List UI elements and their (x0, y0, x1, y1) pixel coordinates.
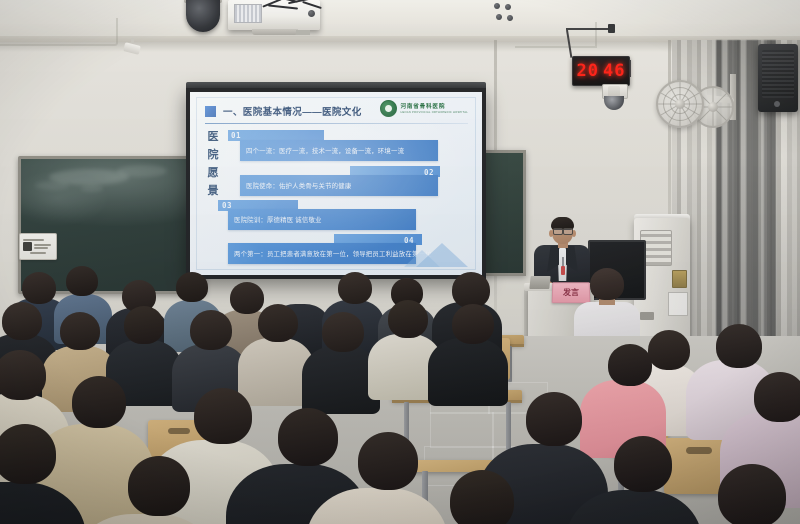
vertical-char-0: 医 (208, 132, 219, 143)
wall-molding-right (515, 22, 597, 48)
block-number-01: 01 (231, 131, 241, 140)
slide-content-blocks: 01 四个一流：医疗一流，技术一流，设备一流，环境一流 02 医院使命：佑护人类… (228, 130, 474, 269)
wall-notice-sign (19, 233, 57, 260)
desk-leg-4 (506, 402, 511, 450)
block-text-03: 医院院训：厚德精医 诚信敬业 (234, 215, 322, 224)
projector-mount (252, 29, 298, 35)
presentation-slide: 一、医院基本情况——医院文化 河南省骨科医院 HENAN PROVINCIAL … (190, 92, 482, 275)
wall-fan (656, 80, 704, 128)
speaker-grill (762, 50, 794, 98)
hospital-name-en: HENAN PROVINCIAL ORTHOPEDIC HOSPITAL (400, 111, 468, 114)
title-bullet-icon (205, 106, 216, 117)
ac-brand-badge (640, 312, 654, 320)
presenter-badge (561, 266, 565, 275)
clock-hours: 20 (577, 61, 599, 81)
slide-title: 一、医院基本情况——医院文化 (223, 104, 362, 118)
ac-control-panel[interactable] (672, 270, 687, 288)
projector-knobs (494, 3, 518, 23)
attendee-head (590, 268, 624, 300)
speaker-indicator (774, 101, 780, 107)
projection-screen: 一、医院基本情况——医院文化 河南省骨科医院 HENAN PROVINCIAL … (190, 92, 482, 275)
block-text-02: 医院使命：佑护人类骨与关节的健康 (246, 181, 351, 190)
vertical-char-3: 景 (208, 186, 219, 197)
clock-plug (608, 24, 615, 33)
vertical-char-1: 院 (208, 150, 219, 161)
block-text-01: 四个一流：医疗一流，技术一流，设备一流，环境一流 (246, 146, 404, 155)
block-number-02: 02 (424, 168, 434, 177)
hospital-emblem-icon (380, 100, 397, 117)
ac-label (668, 292, 688, 316)
block-number-03: 03 (222, 201, 232, 210)
led-wall-clock: 20 46 (572, 56, 630, 86)
vertical-char-2: 愿 (208, 168, 219, 179)
projector-cables (262, 0, 328, 18)
wall-molding-left (0, 18, 118, 46)
clock-wire-horizontal (566, 28, 612, 30)
decorative-chevron-small (404, 250, 440, 267)
name-card-text: 发言 (563, 289, 579, 297)
block-text-04: 两个第一：员工把患者满意放在第一位，领导把员工利益放在第一位 (234, 249, 432, 258)
hospital-logo: 河南省骨科医院 HENAN PROVINCIAL ORTHOPEDIC HOSP… (380, 97, 468, 119)
podium-laptop (529, 276, 550, 289)
lecture-hall-scene: 20 46 (0, 0, 800, 524)
slide-vertical-label: 医 院 愿 景 (205, 132, 221, 197)
front-row-attendee (578, 268, 636, 346)
projector-vent (234, 4, 262, 23)
clock-minutes: 46 (603, 61, 625, 81)
block-number-04: 04 (404, 236, 414, 245)
projector-foot (296, 30, 310, 35)
ceiling (0, 0, 800, 40)
presenter-glasses-left (553, 228, 563, 235)
presenter-glasses-right (563, 228, 573, 235)
slide-title-rule (205, 123, 468, 124)
hospital-name-cn: 河南省骨科医院 (400, 102, 468, 110)
notice-pictogram-icon (23, 242, 32, 251)
